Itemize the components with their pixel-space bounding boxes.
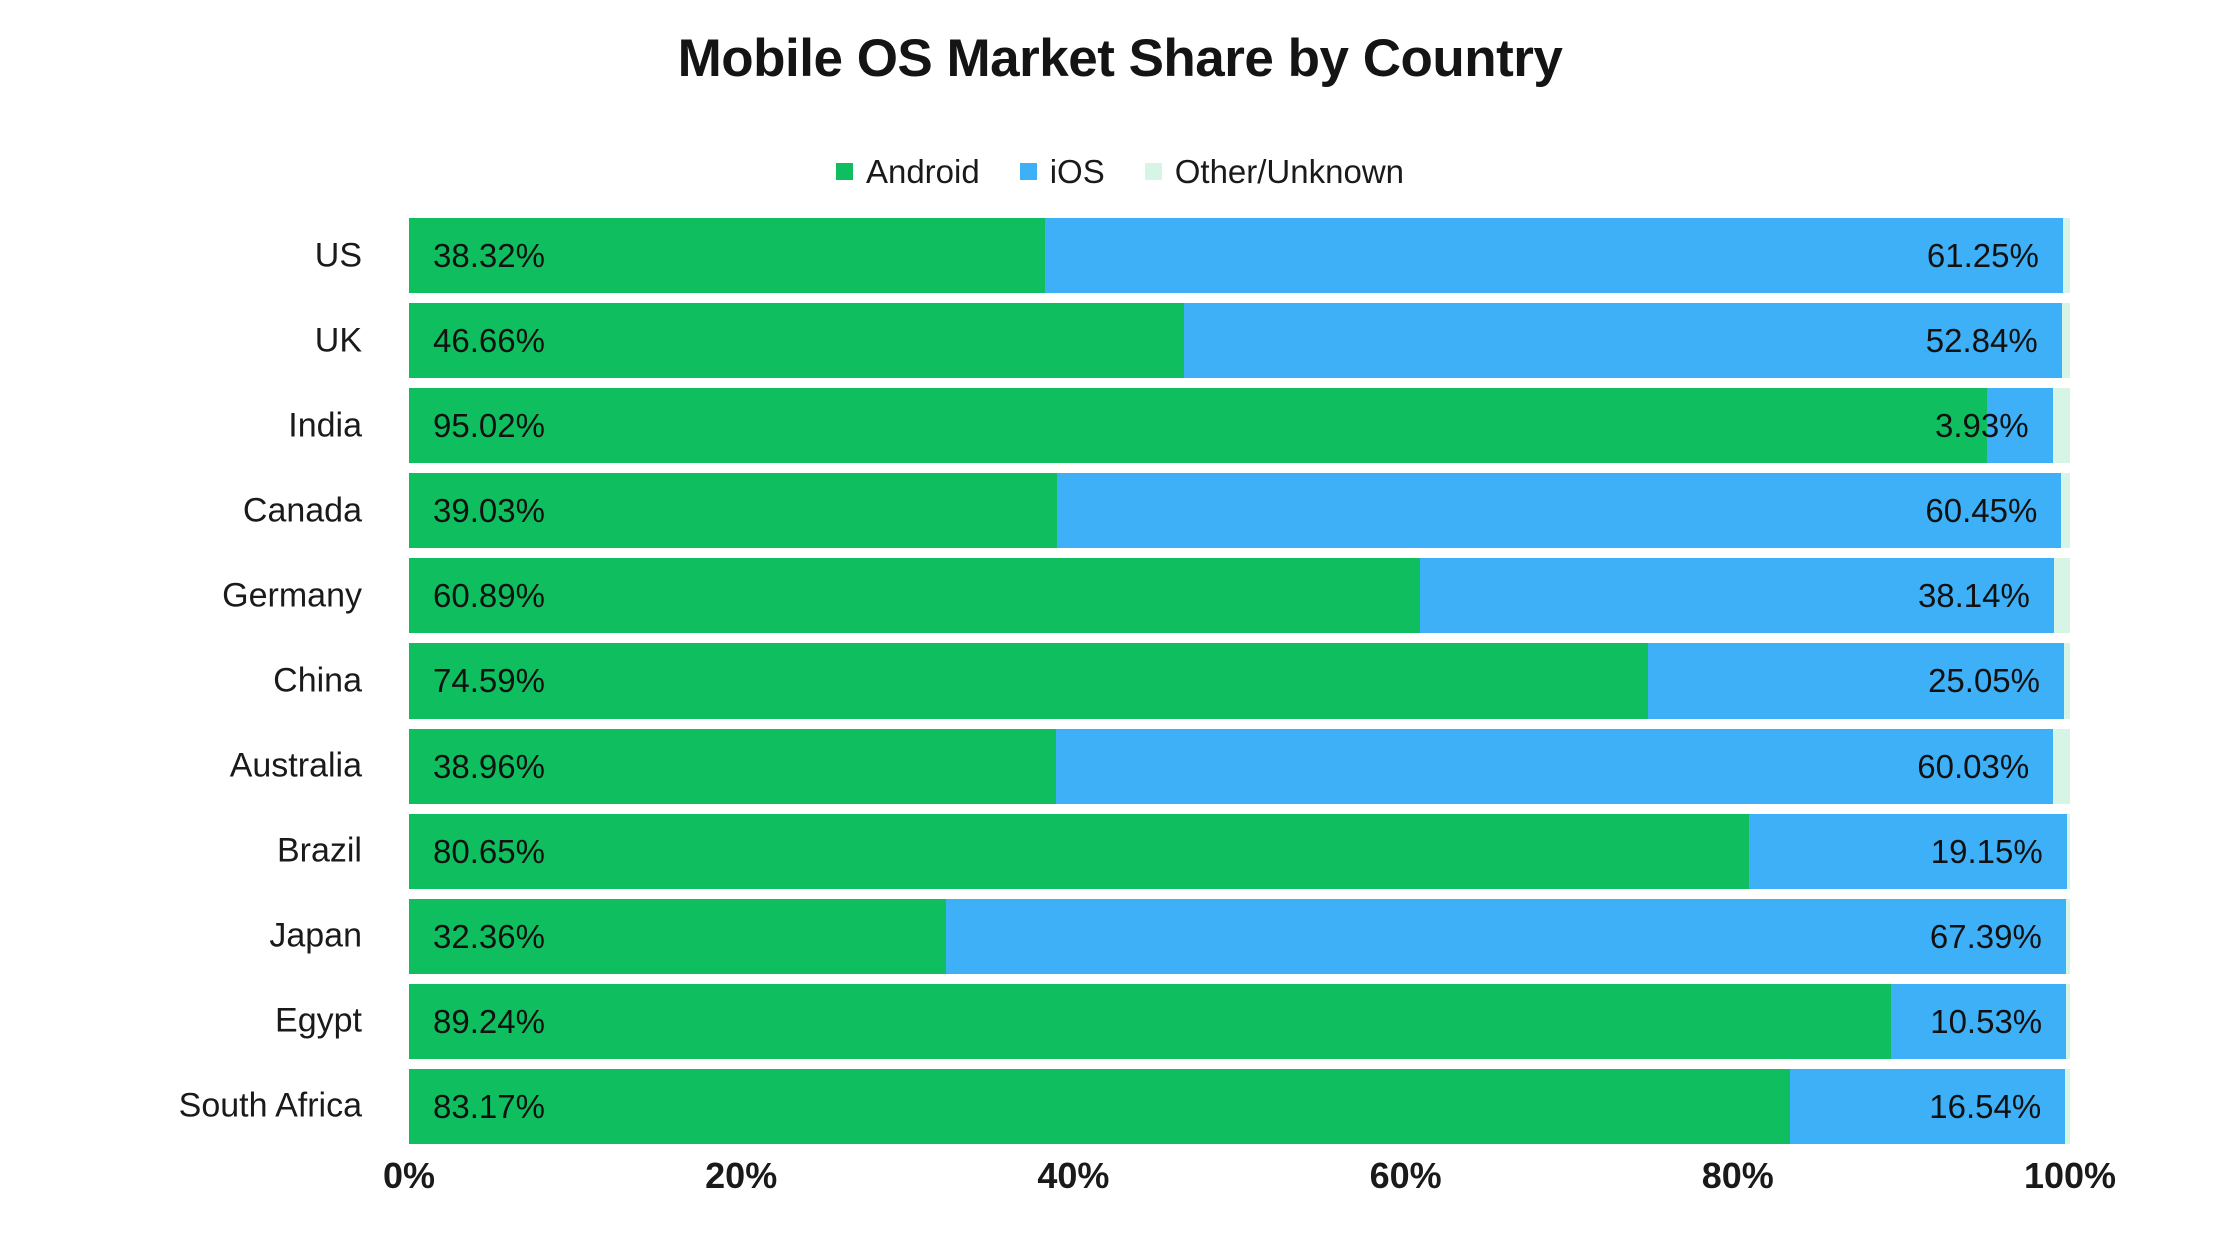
- y-axis-label-south-africa: South Africa: [2, 1087, 362, 1126]
- bar-segment-other[interactable]: [2053, 388, 2070, 463]
- bar-segment-android[interactable]: 80.65%: [409, 814, 1749, 889]
- y-axis-label-egypt: Egypt: [2, 1002, 362, 1041]
- bar-segment-android[interactable]: 39.03%: [409, 473, 1057, 548]
- x-axis-tick-labels: 0%20%40%60%80%100%: [409, 1155, 2070, 1215]
- bar-segment-android[interactable]: 60.89%: [409, 558, 1420, 633]
- bar-segment-ios[interactable]: 67.39%: [946, 899, 2065, 974]
- x-axis-tick-40: 40%: [1037, 1155, 1109, 1197]
- bar-value-label: 25.05%: [1928, 664, 2040, 697]
- bar-segment-other[interactable]: [2061, 473, 2070, 548]
- bar-value-label: 46.66%: [433, 324, 545, 357]
- bar-segment-other[interactable]: [2063, 218, 2070, 293]
- y-axis-label-japan: Japan: [2, 917, 362, 956]
- y-axis-category-labels: USUKIndiaCanadaGermanyChinaAustraliaBraz…: [0, 213, 386, 1149]
- bar-value-label: 83.17%: [433, 1090, 545, 1123]
- bar-segment-other[interactable]: [2054, 558, 2070, 633]
- bar-segment-android[interactable]: 95.02%: [409, 388, 1987, 463]
- legend-label: Android: [866, 155, 980, 188]
- y-axis-label-brazil: Brazil: [2, 832, 362, 871]
- legend-item-other-unknown[interactable]: Other/Unknown: [1145, 155, 1404, 188]
- bar-segment-android[interactable]: 46.66%: [409, 303, 1184, 378]
- x-axis-tick-20: 20%: [705, 1155, 777, 1197]
- bar-row[interactable]: 80.65%19.15%: [409, 814, 2070, 889]
- bar-segment-ios[interactable]: 16.54%: [1790, 1069, 2065, 1144]
- bar-segment-android[interactable]: 74.59%: [409, 643, 1648, 718]
- legend-item-android[interactable]: Android: [836, 155, 980, 188]
- bar-value-label: 38.32%: [433, 239, 545, 272]
- bar-value-label: 60.45%: [1925, 494, 2037, 527]
- bar-segment-other[interactable]: [2067, 814, 2070, 889]
- bar-segment-ios[interactable]: 10.53%: [1891, 984, 2066, 1059]
- bar-segment-other[interactable]: [2053, 729, 2070, 804]
- y-axis-label-canada: Canada: [2, 491, 362, 530]
- bar-segment-other[interactable]: [2064, 643, 2070, 718]
- bar-value-label: 38.96%: [433, 750, 545, 783]
- bar-segment-ios[interactable]: 60.03%: [1056, 729, 2053, 804]
- bar-row[interactable]: 38.32%61.25%: [409, 218, 2070, 293]
- bar-row[interactable]: 46.66%52.84%: [409, 303, 2070, 378]
- bar-value-label: 95.02%: [433, 409, 545, 442]
- bar-segment-android[interactable]: 32.36%: [409, 899, 946, 974]
- bar-value-label: 39.03%: [433, 494, 545, 527]
- bar-segment-ios[interactable]: 52.84%: [1184, 303, 2062, 378]
- bar-row[interactable]: 83.17%16.54%: [409, 1069, 2070, 1144]
- bar-segment-other[interactable]: [2066, 984, 2070, 1059]
- bar-value-label: 80.65%: [433, 835, 545, 868]
- bar-value-label: 60.89%: [433, 579, 545, 612]
- legend-swatch-other: [1145, 163, 1162, 180]
- bar-row[interactable]: 60.89%38.14%: [409, 558, 2070, 633]
- bar-segment-ios[interactable]: 61.25%: [1045, 218, 2062, 293]
- legend-item-ios[interactable]: iOS: [1020, 155, 1105, 188]
- bar-row[interactable]: 95.02%3.93%: [409, 388, 2070, 463]
- bar-value-label: 32.36%: [433, 920, 545, 953]
- bar-segment-ios[interactable]: 3.93%: [1987, 388, 2052, 463]
- chart-title: Mobile OS Market Share by Country: [0, 28, 2240, 89]
- bar-value-label: 3.93%: [1935, 409, 2029, 442]
- bar-segment-other[interactable]: [2065, 1069, 2070, 1144]
- x-axis-tick-100: 100%: [2024, 1155, 2116, 1197]
- y-axis-label-germany: Germany: [2, 576, 362, 615]
- bar-row[interactable]: 74.59%25.05%: [409, 643, 2070, 718]
- legend-label: Other/Unknown: [1175, 155, 1404, 188]
- bar-segment-other[interactable]: [2062, 303, 2070, 378]
- bar-row[interactable]: 38.96%60.03%: [409, 729, 2070, 804]
- y-axis-label-australia: Australia: [2, 747, 362, 786]
- y-axis-label-india: India: [2, 406, 362, 445]
- chart-legend: AndroidiOSOther/Unknown: [0, 155, 2240, 188]
- bar-segment-android[interactable]: 89.24%: [409, 984, 1891, 1059]
- bar-segment-other[interactable]: [2066, 899, 2070, 974]
- bar-value-label: 60.03%: [1917, 750, 2029, 783]
- y-axis-label-uk: UK: [2, 321, 362, 360]
- x-axis-tick-60: 60%: [1370, 1155, 1442, 1197]
- y-axis-label-us: US: [2, 236, 362, 275]
- bar-row[interactable]: 89.24%10.53%: [409, 984, 2070, 1059]
- bar-segment-ios[interactable]: 38.14%: [1420, 558, 2054, 633]
- plot-area: 38.32%61.25%46.66%52.84%95.02%3.93%39.03…: [409, 213, 2070, 1149]
- bar-value-label: 67.39%: [1930, 920, 2042, 953]
- chart-container: Mobile OS Market Share by Country Androi…: [0, 0, 2240, 1260]
- bar-value-label: 38.14%: [1918, 579, 2030, 612]
- bar-value-label: 89.24%: [433, 1005, 545, 1038]
- legend-label: iOS: [1050, 155, 1105, 188]
- bar-value-label: 10.53%: [1930, 1005, 2042, 1038]
- bar-value-label: 61.25%: [1927, 239, 2039, 272]
- bar-segment-android[interactable]: 38.32%: [409, 218, 1045, 293]
- bar-value-label: 19.15%: [1931, 835, 2043, 868]
- bar-value-label: 74.59%: [433, 664, 545, 697]
- y-axis-label-china: China: [2, 662, 362, 701]
- bar-segment-ios[interactable]: 60.45%: [1057, 473, 2061, 548]
- x-axis-tick-80: 80%: [1702, 1155, 1774, 1197]
- bar-row[interactable]: 32.36%67.39%: [409, 899, 2070, 974]
- bar-segment-android[interactable]: 83.17%: [409, 1069, 1790, 1144]
- bar-value-label: 16.54%: [1929, 1090, 2041, 1123]
- legend-swatch-ios: [1020, 163, 1037, 180]
- bar-segment-ios[interactable]: 25.05%: [1648, 643, 2064, 718]
- x-axis-tick-0: 0%: [383, 1155, 435, 1197]
- bar-row[interactable]: 39.03%60.45%: [409, 473, 2070, 548]
- legend-swatch-android: [836, 163, 853, 180]
- bar-segment-android[interactable]: 38.96%: [409, 729, 1056, 804]
- bar-segment-ios[interactable]: 19.15%: [1749, 814, 2067, 889]
- bar-value-label: 52.84%: [1926, 324, 2038, 357]
